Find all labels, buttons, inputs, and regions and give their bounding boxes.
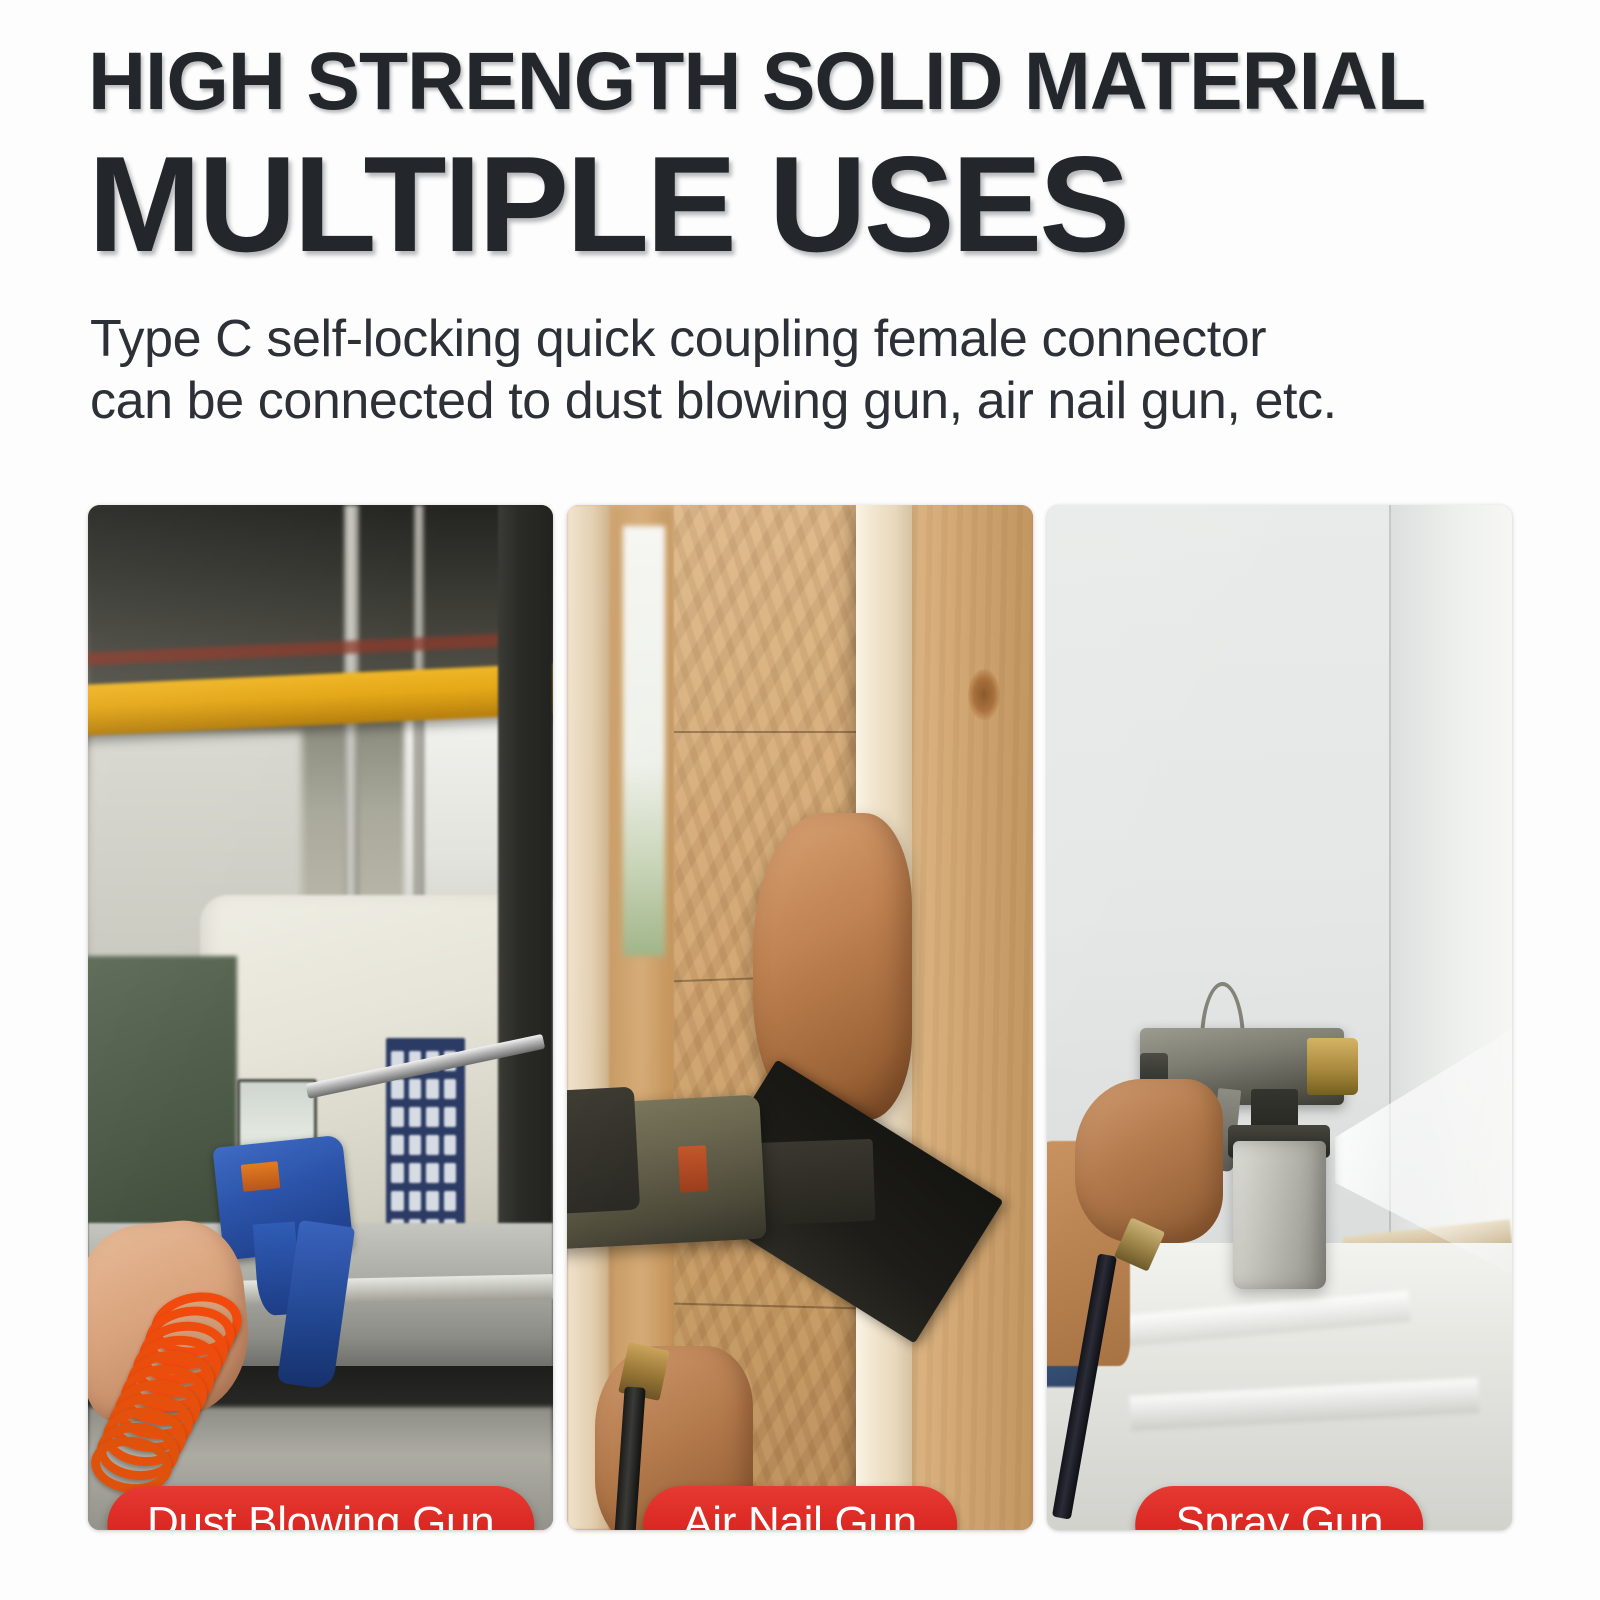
orange-coiled-hose [88, 1284, 246, 1510]
photo-dust-blowing-gun [88, 505, 553, 1530]
photo-air-nail-gun [567, 505, 1032, 1530]
headline-block: HIGH STRENGTH SOLID MATERIAL MULTIPLE US… [88, 36, 1512, 274]
subtitle-line-2: can be connected to dust blowing gun, ai… [90, 370, 1510, 432]
headline-line-1: HIGH STRENGTH SOLID MATERIAL [88, 36, 1484, 128]
usage-panel-row: Dust Blowing Gun [88, 505, 1512, 1530]
caption-pill-spray-gun: Spray Gun [1135, 1486, 1423, 1530]
usage-panel-spray-gun[interactable]: Spray Gun [1047, 505, 1512, 1530]
caption-pill-air-nail-gun: Air Nail Gun [643, 1486, 957, 1530]
product-feature-banner: HIGH STRENGTH SOLID MATERIAL MULTIPLE US… [0, 0, 1600, 1600]
operator-hand [1075, 1079, 1224, 1243]
caption-pill-dust-blowing-gun: Dust Blowing Gun [107, 1486, 534, 1530]
subtitle-block: Type C self-locking quick coupling femal… [90, 308, 1510, 432]
headline-line-2: MULTIPLE USES [88, 134, 1512, 274]
usage-panel-air-nail-gun[interactable]: Air Nail Gun [567, 505, 1032, 1530]
usage-panel-dust-blowing-gun[interactable]: Dust Blowing Gun [88, 505, 553, 1530]
photo-spray-gun [1047, 505, 1512, 1530]
paint-cup [1233, 1141, 1326, 1290]
subtitle-line-1: Type C self-locking quick coupling femal… [90, 308, 1510, 370]
spray-nozzle [1307, 1038, 1358, 1095]
nailer-nose [752, 1138, 876, 1224]
